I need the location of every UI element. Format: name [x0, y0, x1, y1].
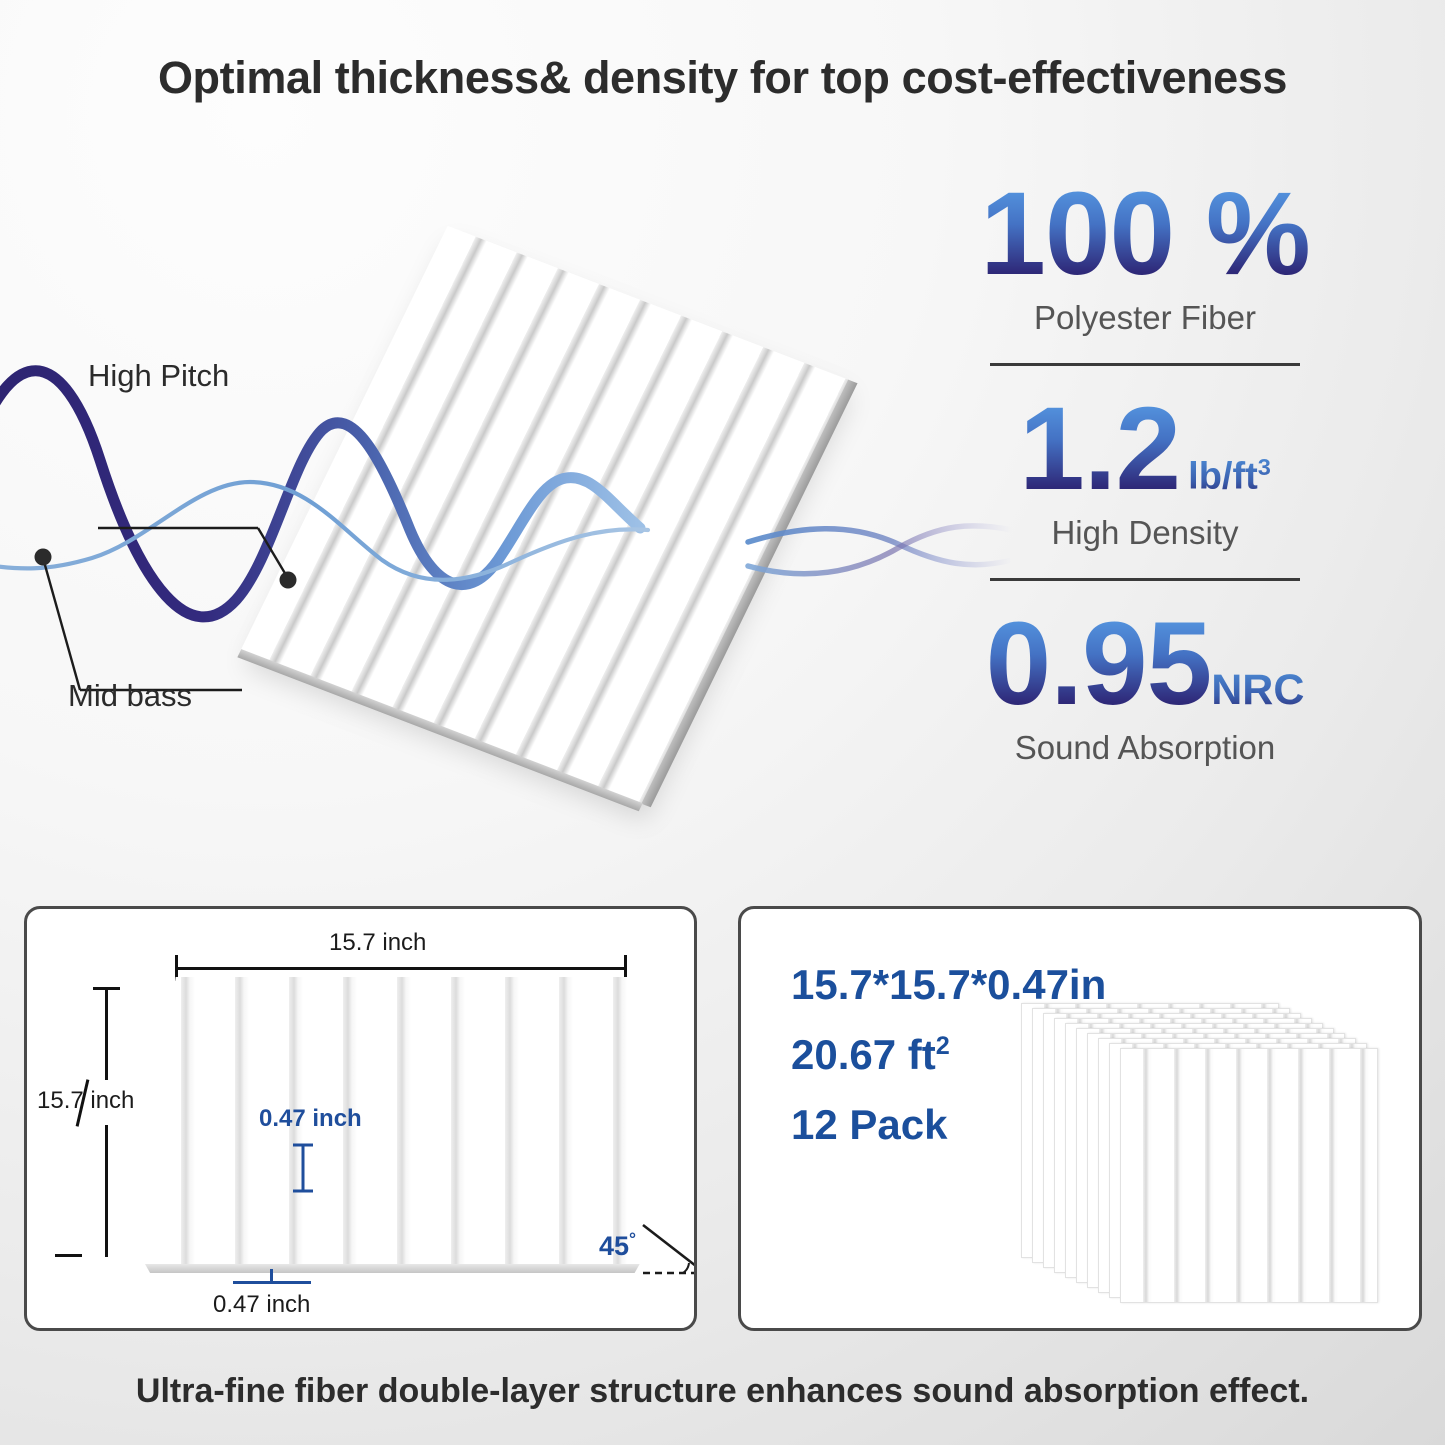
mid-bass-leader [43, 558, 242, 690]
pack-size-line: 15.7*15.7*0.47in [791, 961, 1106, 1009]
stat-unit-density: lb/ft3 [1188, 454, 1271, 499]
mid-bass-point [35, 549, 52, 566]
panel-stack-illustration [1021, 1003, 1381, 1293]
angle-label: 45° [599, 1229, 636, 1262]
stat-value-density: 1.2 [1019, 390, 1180, 508]
panel-slats [241, 226, 849, 804]
specs-panel: 100 % Polyester Fiber 1.2lb/ft3 High Den… [935, 175, 1355, 767]
width-dimension-line [175, 967, 627, 970]
page-title: Optimal thickness& density for top cost-… [0, 52, 1445, 104]
angle-diagram-icon [635, 1217, 697, 1283]
stat-label-density: High Density [935, 514, 1355, 552]
height-dimension-line-bottom [105, 1125, 108, 1257]
stat-density: 1.2lb/ft3 High Density [935, 390, 1355, 552]
high-pitch-leader [98, 528, 286, 575]
groove-tick [270, 1269, 273, 1282]
stat-unit-nrc: NRC [1211, 666, 1304, 715]
stats-divider-1 [990, 363, 1300, 366]
stat-density-row: 1.2lb/ft3 [935, 390, 1355, 508]
stat-polyester-fiber: 100 % Polyester Fiber [935, 175, 1355, 337]
height-tick-top [93, 987, 120, 990]
panel-front-base [145, 1264, 655, 1273]
dimensions-card: 15.7 inch 15.7 inch 0.47 inch 0.47 inch … [24, 906, 697, 1331]
mid-bass-label: Mid bass [68, 678, 192, 714]
pack-area-exponent: 2 [936, 1032, 950, 1060]
stat-label-nrc: Sound Absorption [935, 729, 1355, 767]
stat-unit-density-exponent: 3 [1258, 454, 1271, 480]
pack-info-card: 15.7*15.7*0.47in 20.67 ft2 12 Pack [738, 906, 1422, 1331]
height-dimension-label: 15.7 inch [37, 1087, 134, 1115]
acoustic-panel-illustration [241, 226, 849, 804]
footer-caption: Ultra-fine fiber double-layer structure … [0, 1372, 1445, 1411]
panel-front-view [145, 977, 655, 1265]
stat-nrc: 0.95NRC Sound Absorption [935, 605, 1355, 767]
stat-label-polyester: Polyester Fiber [935, 299, 1355, 337]
height-tick-bottom [55, 1254, 82, 1257]
stat-value-nrc: 0.95 [986, 605, 1212, 723]
thickness-marker-icon [285, 1141, 325, 1197]
panel-front-face [145, 977, 655, 1265]
stat-value-polyester: 100 % [980, 175, 1310, 293]
stats-divider-2 [990, 578, 1300, 581]
stat-nrc-row: 0.95NRC [935, 605, 1355, 723]
width-dimension-label: 15.7 inch [329, 929, 426, 957]
stat-unit-density-text: lb/ft [1188, 456, 1258, 498]
pack-area-value: 20.67 ft [791, 1031, 936, 1078]
height-dimension-line-top [105, 987, 108, 1080]
high-pitch-label: High Pitch [88, 358, 229, 394]
stack-sheet [1120, 1048, 1378, 1303]
angle-value: 45 [599, 1231, 629, 1261]
thickness-label: 0.47 inch [259, 1105, 362, 1133]
groove-label: 0.47 inch [213, 1291, 310, 1319]
